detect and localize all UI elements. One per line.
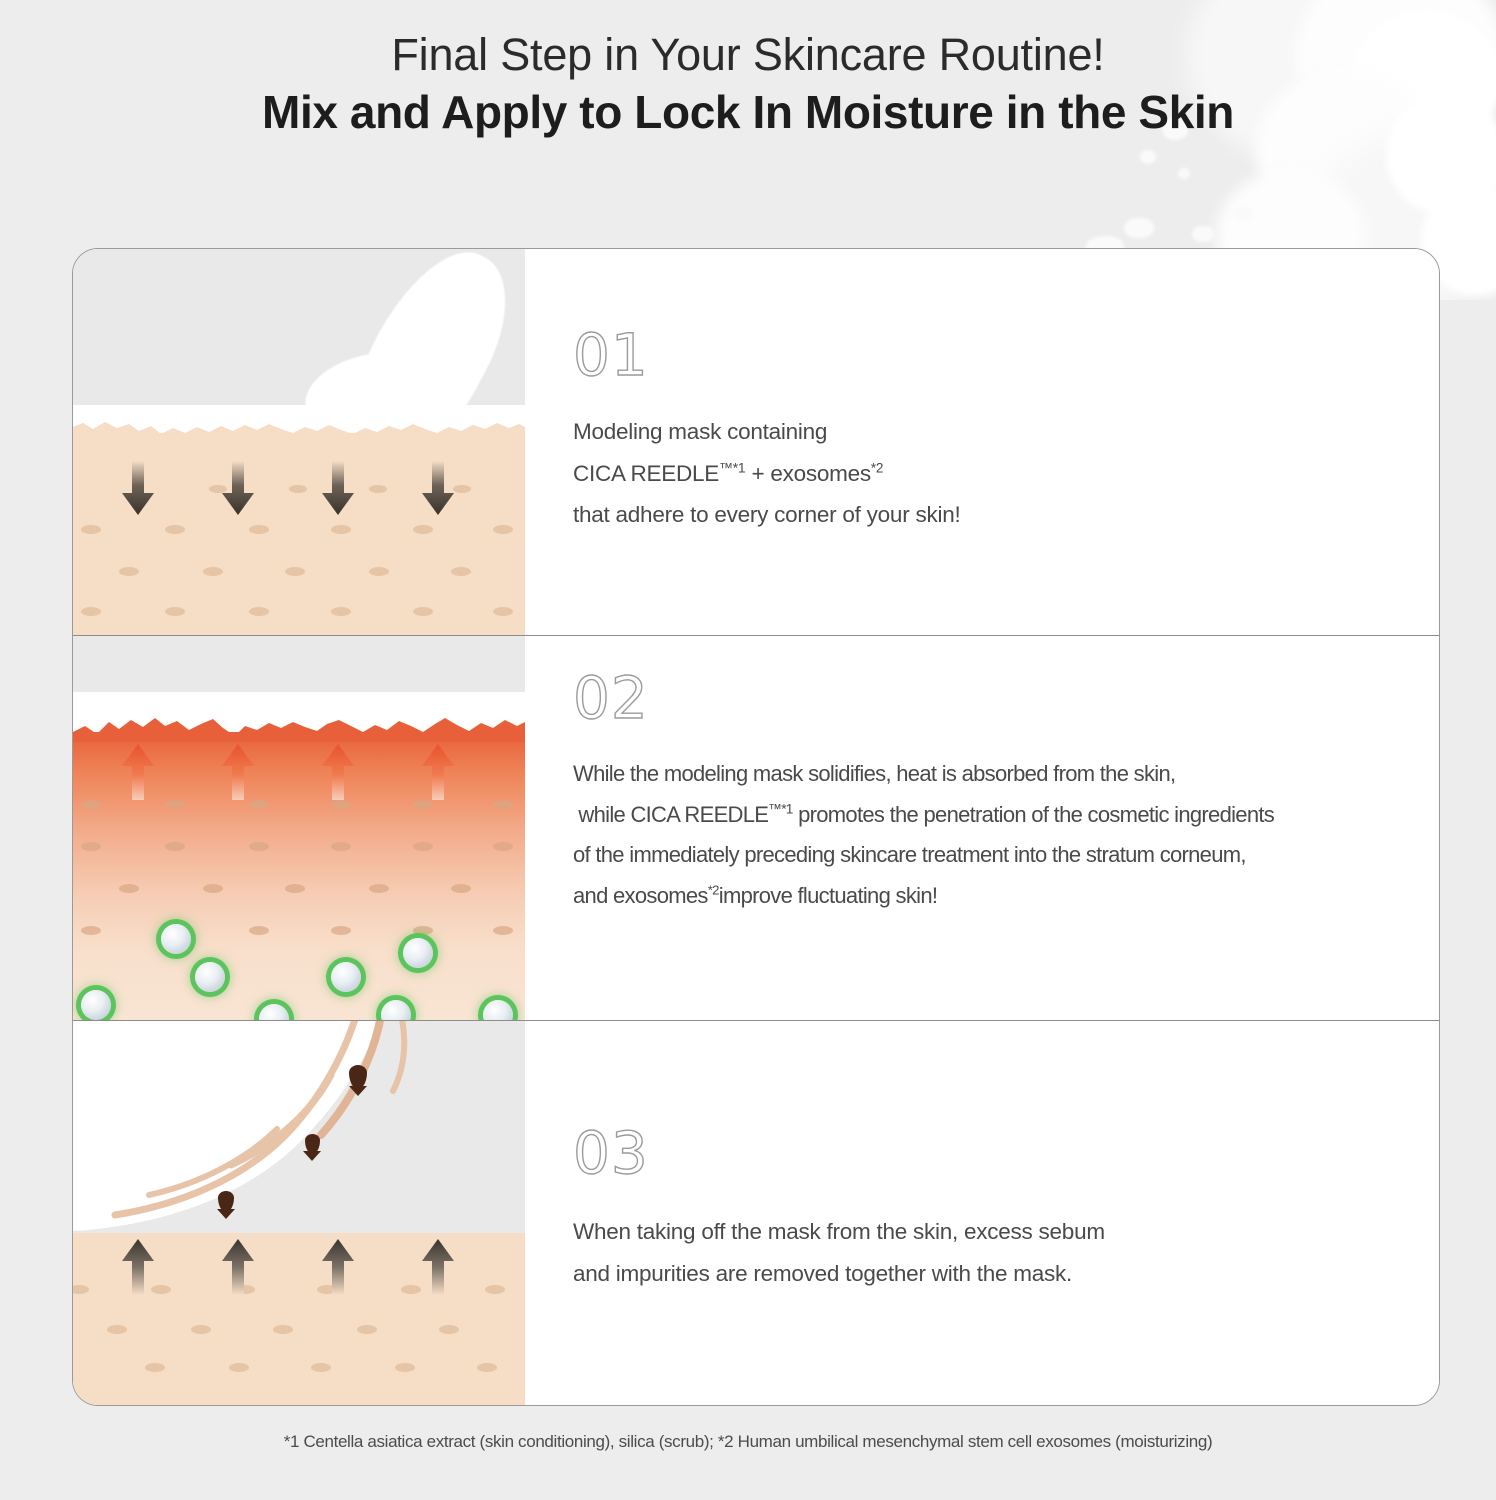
step-description-02: While the modeling mask solidifies, heat… bbox=[573, 754, 1274, 917]
steps-card: 01 Modeling mask containing CICA REEDLE™… bbox=[72, 248, 1440, 1406]
step-number-03: 03 bbox=[573, 1119, 649, 1187]
step-description-01: Modeling mask containing CICA REEDLE™*1 … bbox=[573, 411, 960, 536]
sebum-droplet bbox=[349, 1065, 367, 1089]
absorption-arrow-down bbox=[121, 461, 155, 515]
step-03-line-2: and impurities are removed together with… bbox=[573, 1253, 1105, 1295]
heat-release-arrow-up bbox=[321, 744, 355, 800]
skin-layer bbox=[73, 1233, 525, 1405]
step-02-line-2: while CICA REEDLE™*1 promotes the penetr… bbox=[573, 795, 1274, 836]
exosome-particle bbox=[381, 1000, 411, 1020]
skin-layer bbox=[73, 433, 525, 635]
impurity-removal-arrow-up bbox=[421, 1239, 455, 1295]
text-step-01: 01 Modeling mask containing CICA REEDLE™… bbox=[525, 249, 1439, 635]
sebum-droplet bbox=[305, 1134, 320, 1154]
step-01-line-1: Modeling mask containing bbox=[573, 411, 960, 453]
header: Final Step in Your Skincare Routine! Mix… bbox=[0, 28, 1496, 143]
step-row-03: 03 When taking off the mask from the ski… bbox=[73, 1021, 1439, 1405]
heat-release-arrow-up bbox=[421, 744, 455, 800]
page-title-line-2: Mix and Apply to Lock In Moisture in the… bbox=[0, 81, 1496, 143]
sebum-droplet bbox=[218, 1191, 234, 1212]
ingredient-footnote: *1 Centella asiatica extract (skin condi… bbox=[0, 1432, 1496, 1452]
step-row-02: 02 While the modeling mask solidifies, h… bbox=[73, 635, 1439, 1021]
step-02-line-1: While the modeling mask solidifies, heat… bbox=[573, 754, 1274, 795]
exosome-particle bbox=[403, 938, 433, 968]
step-01-line-2: CICA REEDLE™*1 + exosomes*2 bbox=[573, 453, 960, 495]
page-title-line-1: Final Step in Your Skincare Routine! bbox=[0, 28, 1496, 81]
skin-surface-jagged bbox=[73, 712, 525, 742]
absorption-arrow-down bbox=[421, 461, 455, 515]
step-number-01: 01 bbox=[573, 321, 649, 389]
impurity-removal-arrow-up bbox=[121, 1239, 155, 1295]
exosome-particle bbox=[259, 1004, 289, 1020]
step-02-line-3: of the immediately preceding skincare tr… bbox=[573, 835, 1274, 876]
exosome-particle bbox=[331, 962, 361, 992]
step-row-01: 01 Modeling mask containing CICA REEDLE™… bbox=[73, 249, 1439, 635]
step-03-line-1: When taking off the mask from the skin, … bbox=[573, 1211, 1105, 1253]
exosome-particle bbox=[195, 962, 225, 992]
heated-skin-layer bbox=[73, 732, 525, 1020]
step-description-03: When taking off the mask from the skin, … bbox=[573, 1211, 1105, 1294]
illustration-step-03 bbox=[73, 1021, 525, 1405]
illustration-step-02 bbox=[73, 636, 525, 1020]
absorption-arrow-down bbox=[321, 461, 355, 515]
sky-band bbox=[73, 636, 525, 692]
step-01-line-3: that adhere to every corner of your skin… bbox=[573, 494, 960, 536]
absorption-arrow-down bbox=[221, 461, 255, 515]
impurity-removal-arrow-up bbox=[321, 1239, 355, 1295]
skin-surface-jagged bbox=[73, 417, 525, 443]
text-step-03: 03 When taking off the mask from the ski… bbox=[525, 1021, 1439, 1405]
text-step-02: 02 While the modeling mask solidifies, h… bbox=[525, 636, 1439, 1020]
heat-release-arrow-up bbox=[121, 744, 155, 800]
exosome-particle bbox=[483, 1000, 513, 1020]
peeling-mask-sheet bbox=[73, 1021, 525, 1251]
impurity-removal-arrow-up bbox=[221, 1239, 255, 1295]
step-number-02: 02 bbox=[573, 664, 649, 732]
exosome-particle bbox=[161, 924, 191, 954]
step-02-line-4: and exosomes*2improve fluctuating skin! bbox=[573, 876, 1274, 917]
heat-release-arrow-up bbox=[221, 744, 255, 800]
illustration-step-01 bbox=[73, 249, 525, 635]
exosome-particle bbox=[81, 990, 111, 1020]
